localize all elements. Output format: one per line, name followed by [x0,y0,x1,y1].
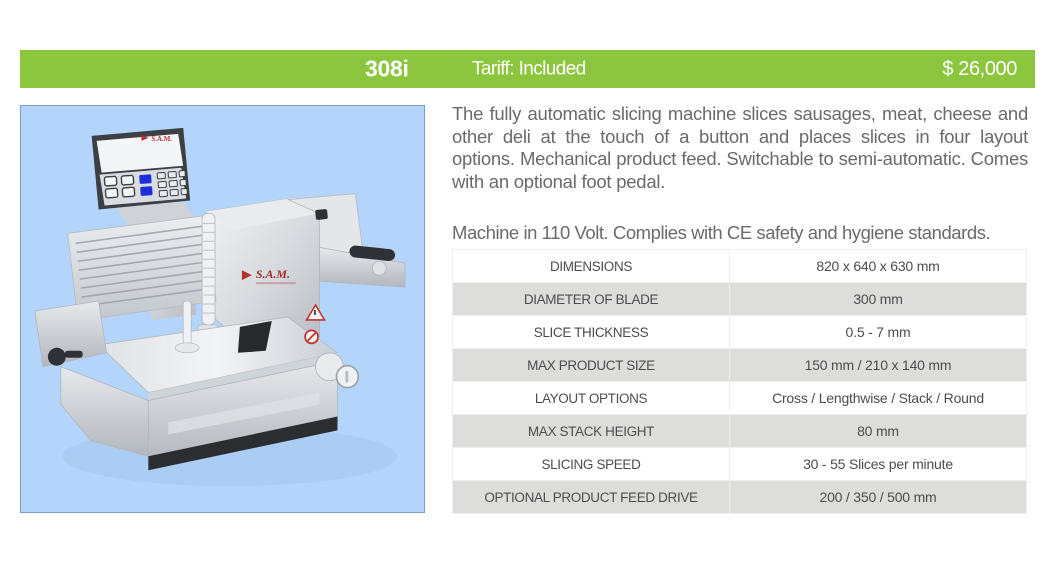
tariff-label: Tariff: Included [472,60,586,79]
spec-label: SLICE THICKNESS [453,316,730,349]
table-row: LAYOUT OPTIONS Cross / Lengthwise / Stac… [453,382,1027,415]
specifications-table-body: DIMENSIONS 820 x 640 x 630 mm DIAMETER O… [453,250,1027,514]
spec-label: SLICING SPEED [453,448,730,481]
spec-label: OPTIONAL PRODUCT FEED DRIVE [453,481,730,514]
meat-slicer-illustration: S.A.M. [21,106,424,512]
description-paragraph: The fully automatic slicing machine slic… [452,103,1028,193]
table-row: MAX PRODUCT SIZE 150 mm / 210 x 140 mm [453,349,1027,382]
table-row: DIMENSIONS 820 x 640 x 630 mm [453,250,1027,283]
table-row: SLICE THICKNESS 0.5 - 7 mm [453,316,1027,349]
table-row: OPTIONAL PRODUCT FEED DRIVE 200 / 350 / … [453,481,1027,514]
model-number: 308i [365,58,409,81]
description-block: The fully automatic slicing machine slic… [452,103,1028,244]
spec-value: 80 mm [730,415,1027,448]
standards-paragraph: Machine in 110 Volt. Complies with CE sa… [452,222,1028,244]
spec-label: MAX STACK HEIGHT [453,415,730,448]
product-photo: S.A.M. [20,105,425,513]
svg-text:S.A.M.: S.A.M. [256,267,290,281]
spec-value: 820 x 640 x 630 mm [730,250,1027,283]
spec-value: 0.5 - 7 mm [730,316,1027,349]
spec-label: MAX PRODUCT SIZE [453,349,730,382]
specifications-table: DIMENSIONS 820 x 640 x 630 mm DIAMETER O… [452,249,1027,514]
control-panel: S.A.M. [92,128,191,210]
product-header-bar: 308i Tariff: Included $ 26,000 [20,50,1035,88]
spec-label: LAYOUT OPTIONS [453,382,730,415]
spec-value: 200 / 350 / 500 mm [730,481,1027,514]
table-row: SLICING SPEED 30 - 55 Slices per minute [453,448,1027,481]
spec-value: 30 - 55 Slices per minute [730,448,1027,481]
spec-label: DIMENSIONS [453,250,730,283]
price-label: $ 26,000 [942,59,1017,79]
spec-value: Cross / Lengthwise / Stack / Round [730,382,1027,415]
spec-value: 300 mm [730,283,1027,316]
table-row: MAX STACK HEIGHT 80 mm [453,415,1027,448]
spec-label: DIAMETER OF BLADE [453,283,730,316]
svg-text:S.A.M.: S.A.M. [151,135,172,143]
spec-value: 150 mm / 210 x 140 mm [730,349,1027,382]
table-row: DIAMETER OF BLADE 300 mm [453,283,1027,316]
